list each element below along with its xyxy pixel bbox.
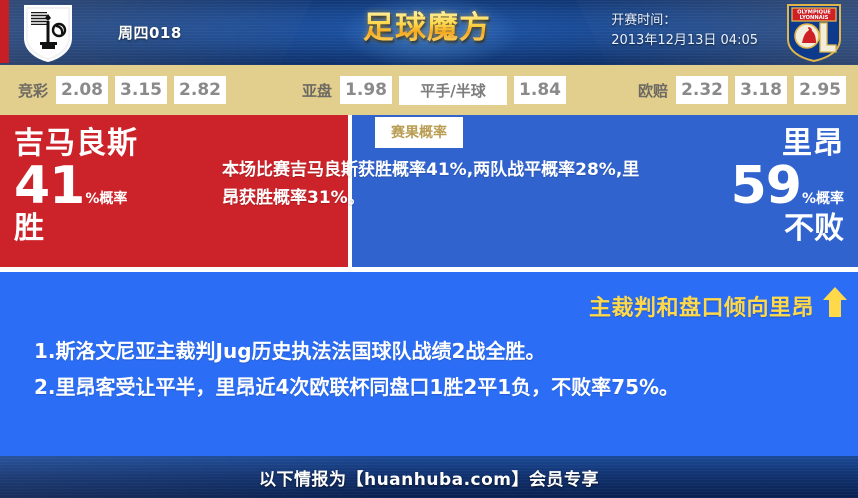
info-headline: 主裁判和盘口倾向里昂 bbox=[589, 290, 814, 322]
kickoff-block: 开赛时间： 2013年12月13日 04:05 bbox=[611, 11, 758, 51]
odds-group-asian: 亚盘 1.98 平手/半球 1.84 bbox=[302, 76, 566, 105]
home-probability-value: 41 bbox=[14, 161, 84, 211]
arrow-up-icon bbox=[822, 286, 848, 318]
info-section: 主裁判和盘口倾向里昂 1.斯洛文尼亚主裁判Jug历史执法法国球队战绩2战全胜。 … bbox=[0, 272, 858, 456]
away-probability-value: 59 bbox=[731, 161, 801, 211]
away-probability-suffix: %概率 bbox=[802, 192, 844, 211]
odds-group-label: 亚盘 bbox=[302, 80, 332, 101]
olympique-lyonnais-crest: OLYMPIQUE LYONNAIS bbox=[786, 3, 842, 63]
odds-cell-european-away[interactable]: 2.95 bbox=[794, 76, 846, 104]
info-list: 1.斯洛文尼亚主裁判Jug历史执法法国球队战绩2战全胜。 2.里昂客受让平半，里… bbox=[34, 334, 834, 406]
odds-cell-european-home[interactable]: 2.32 bbox=[676, 76, 728, 104]
kickoff-label: 开赛时间： bbox=[611, 11, 758, 31]
tab-result-probability[interactable]: 赛果概率 bbox=[375, 117, 463, 148]
odds-cell-asian-home[interactable]: 1.98 bbox=[340, 76, 392, 104]
odds-bar: 竞彩 2.08 3.15 2.82 亚盘 1.98 平手/半球 1.84 欧赔 … bbox=[0, 65, 858, 115]
odds-cell-european-draw[interactable]: 3.18 bbox=[735, 76, 787, 104]
info-list-item-2: 2.里昂客受让平半，里昂近4次欧联杯同盘口1胜2平1负，不败率75%。 bbox=[34, 370, 834, 404]
kickoff-value: 2013年12月13日 04:05 bbox=[611, 31, 758, 51]
info-list-item-1: 1.斯洛文尼亚主裁判Jug历史执法法国球队战绩2战全胜。 bbox=[34, 334, 834, 368]
odds-cell-jingcai-away[interactable]: 2.82 bbox=[174, 76, 226, 104]
match-preview-card: 周四018 足球魔方 开赛时间： 2013年12月13日 04:05 OLYMP… bbox=[0, 0, 858, 498]
home-probability-suffix: %概率 bbox=[85, 192, 127, 211]
brand-logo: 足球魔方 bbox=[363, 10, 491, 46]
header-bar: 周四018 足球魔方 开赛时间： 2013年12月13日 04:05 OLYMP… bbox=[0, 0, 858, 65]
left-red-stripe bbox=[0, 0, 9, 63]
odds-cell-asian-handicap[interactable]: 平手/半球 bbox=[399, 76, 507, 105]
odds-cell-asian-away[interactable]: 1.84 bbox=[514, 76, 566, 104]
probability-summary-text: 本场比赛吉马良斯获胜概率41%,两队战平概率28%,里昂获胜概率31%。 bbox=[222, 156, 642, 212]
odds-cell-jingcai-home[interactable]: 2.08 bbox=[56, 76, 108, 104]
away-result-label: 不败 bbox=[731, 213, 844, 245]
home-result-label: 胜 bbox=[14, 213, 138, 245]
away-probability-block: 里昂 59 %概率 不败 bbox=[731, 127, 844, 245]
vitoria-guimaraes-crest bbox=[22, 4, 74, 62]
odds-cell-jingcai-draw[interactable]: 3.15 bbox=[115, 76, 167, 104]
footer-bar: 以下情报为【huanhuba.com】会员专享 bbox=[0, 456, 858, 498]
odds-group-european: 欧赔 2.32 3.18 2.95 bbox=[638, 76, 846, 104]
odds-group-label: 欧赔 bbox=[638, 80, 668, 101]
odds-group-label: 竞彩 bbox=[18, 80, 48, 101]
footer-text: 以下情报为【huanhuba.com】会员专享 bbox=[0, 456, 858, 498]
home-probability-block: 吉马良斯 41 %概率 胜 bbox=[14, 127, 138, 245]
svg-text:LYONNAIS: LYONNAIS bbox=[800, 15, 829, 21]
odds-group-jingcai: 竞彩 2.08 3.15 2.82 bbox=[18, 76, 226, 104]
match-round-label: 周四018 bbox=[118, 22, 182, 43]
